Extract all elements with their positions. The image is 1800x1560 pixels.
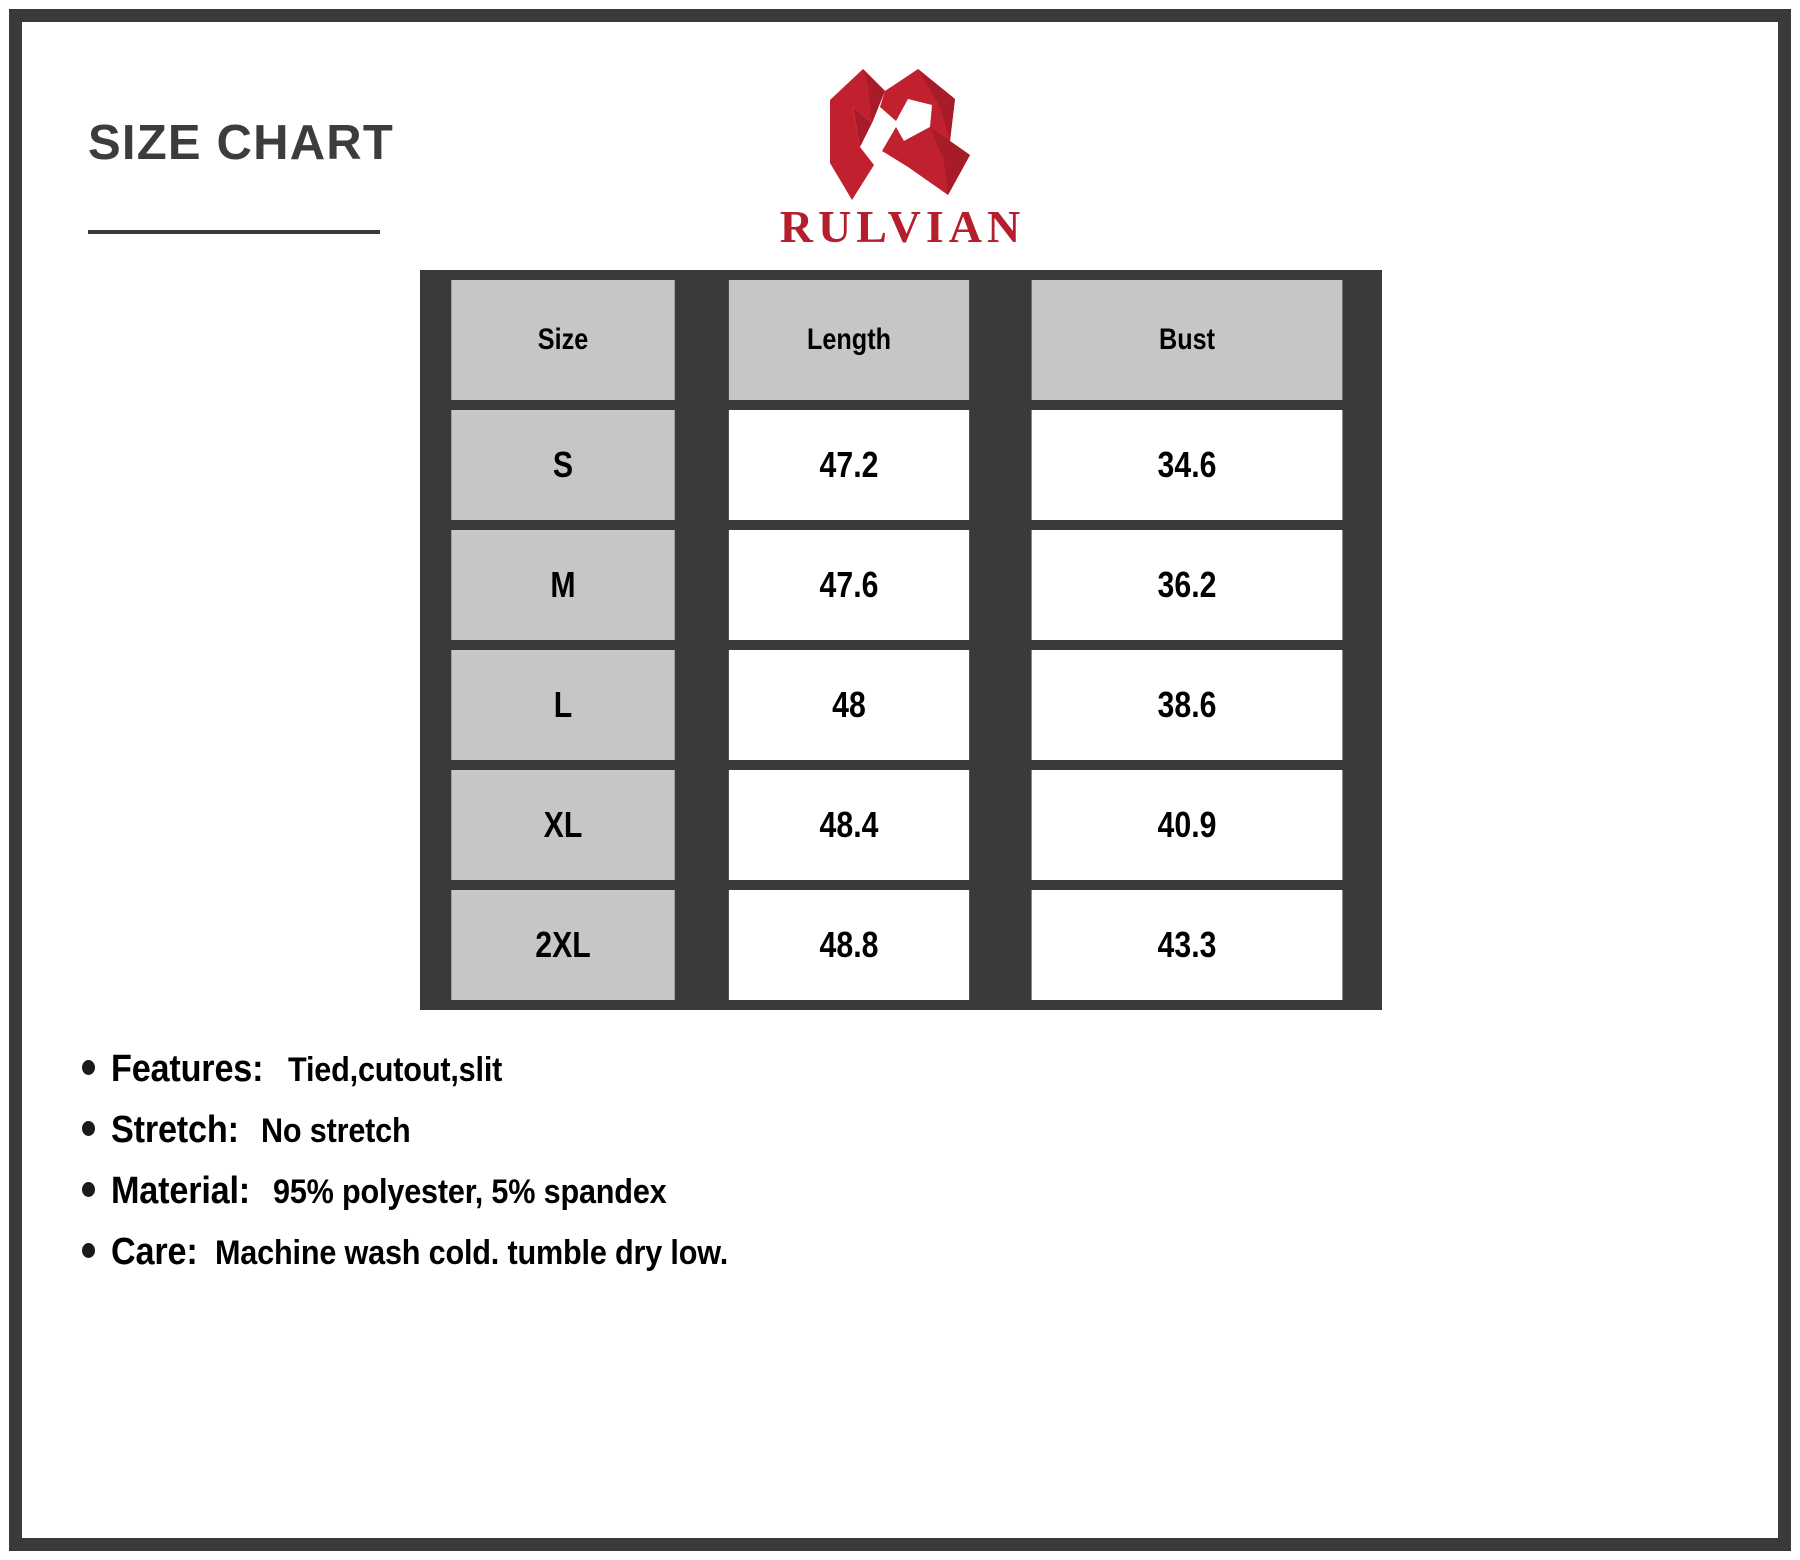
spec-label-material: Material: xyxy=(111,1170,250,1213)
list-item: Stretch: No stretch xyxy=(82,1109,1262,1152)
list-item: Care: Machine wash cold. tumble dry low. xyxy=(82,1231,1262,1274)
table-row: M 47.6 36.2 xyxy=(430,530,1372,640)
product-specs-list: Features: Tied,cutout,slit Stretch: No s… xyxy=(82,1048,1262,1292)
table-row: 2XL 48.8 43.3 xyxy=(430,890,1372,1000)
bullet-icon xyxy=(82,1121,95,1136)
title-block: SIZE CHART xyxy=(88,118,508,169)
cell-size: 2XL xyxy=(451,890,674,1000)
size-chart-page: SIZE CHART RULVIAN Size Length Bust S 47… xyxy=(0,0,1800,1560)
cell-length: 47.6 xyxy=(729,530,969,640)
spec-label-care: Care: xyxy=(111,1231,198,1274)
spec-label-features: Features: xyxy=(111,1048,263,1091)
spec-value-care: Machine wash cold. tumble dry low. xyxy=(215,1234,728,1273)
cell-size: S xyxy=(451,410,674,520)
cell-length: 48.8 xyxy=(729,890,969,1000)
bullet-icon xyxy=(82,1182,95,1197)
cell-size: XL xyxy=(451,770,674,880)
cell-size: L xyxy=(451,650,674,760)
cell-length: 48.4 xyxy=(729,770,969,880)
title-underline xyxy=(88,230,380,234)
cell-size: M xyxy=(451,530,674,640)
cell-bust: 36.2 xyxy=(1032,530,1343,640)
brand-logo: RULVIAN xyxy=(660,55,1140,250)
table-row: XL 48.4 40.9 xyxy=(430,770,1372,880)
cell-length: 48 xyxy=(729,650,969,760)
bullet-icon xyxy=(82,1060,95,1075)
list-item: Material: 95% polyester, 5% spandex xyxy=(82,1170,1262,1213)
column-header-length: Length xyxy=(729,280,969,400)
cell-bust: 43.3 xyxy=(1032,890,1343,1000)
table-row: S 47.2 34.6 xyxy=(430,410,1372,520)
page-title: SIZE CHART xyxy=(88,118,508,169)
bullet-icon xyxy=(82,1243,95,1258)
list-item: Features: Tied,cutout,slit xyxy=(82,1048,1262,1091)
table-row: L 48 38.6 xyxy=(430,650,1372,760)
column-header-bust: Bust xyxy=(1032,280,1343,400)
cell-bust: 34.6 xyxy=(1032,410,1343,520)
cell-bust: 38.6 xyxy=(1032,650,1343,760)
spec-value-features: Tied,cutout,slit xyxy=(288,1051,502,1090)
brand-wordmark: RULVIAN xyxy=(660,204,1140,250)
cell-length: 47.2 xyxy=(729,410,969,520)
angular-r-monogram-icon xyxy=(800,55,1000,200)
spec-value-material: 95% polyester, 5% spandex xyxy=(273,1173,666,1212)
spec-label-stretch: Stretch: xyxy=(111,1109,239,1152)
size-table: Size Length Bust S 47.2 34.6 M 47.6 36.2… xyxy=(420,270,1382,1010)
spec-value-stretch: No stretch xyxy=(261,1112,411,1151)
cell-bust: 40.9 xyxy=(1032,770,1343,880)
table-header-row: Size Length Bust xyxy=(430,280,1372,400)
column-header-size: Size xyxy=(451,280,674,400)
